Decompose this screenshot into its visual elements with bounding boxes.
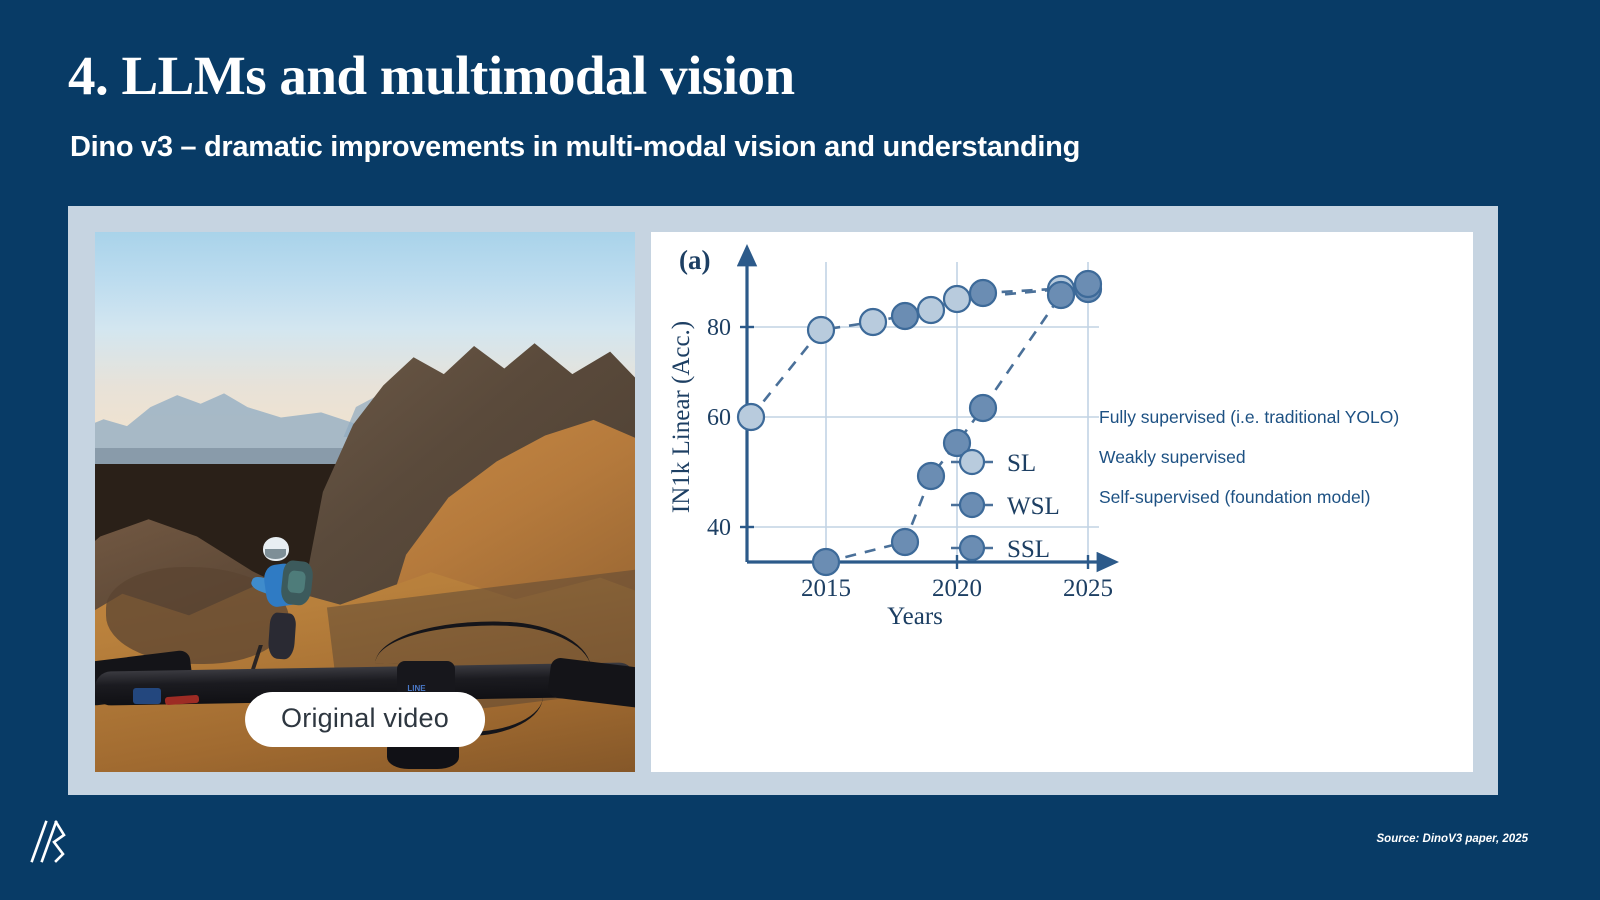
chart-legend: SL WSL SSL xyxy=(951,450,1060,563)
chart-legend-item-sl: SL xyxy=(951,450,1036,477)
x-tick-2015: 2015 xyxy=(801,575,851,602)
chart-legend-label-wsl: WSL xyxy=(1007,493,1060,520)
chart-annotation-list: Fully supervised (i.e. traditional YOLO)… xyxy=(1099,407,1399,508)
slide-root: 4. LLMs and multimodal vision Dino v3 – … xyxy=(0,0,1600,900)
chart-x-tick-labels: 2015 2020 2025 xyxy=(801,575,1113,602)
chart-legend-label-sl: SL xyxy=(1007,450,1036,477)
page-title: 4. LLMs and multimodal vision xyxy=(68,44,795,107)
chart-panel: (a) xyxy=(651,232,1473,772)
source-attribution: Source: DinoV3 paper, 2025 xyxy=(1377,833,1528,845)
annotation-self-supervised: Self-supervised (foundation model) xyxy=(1099,487,1399,508)
series-points-sl xyxy=(738,276,1074,430)
chart-legend-label-ssl: SSL xyxy=(1007,536,1050,563)
chart-y-tick-labels: 80 60 40 xyxy=(707,315,731,541)
original-video-badge[interactable]: Original video xyxy=(245,692,485,747)
annotation-weakly-supervised: Weakly supervised xyxy=(1099,447,1399,468)
y-tick-60: 60 xyxy=(707,405,731,431)
brand-logo-icon xyxy=(26,815,78,867)
chart-y-axis-label: IN1k Linear (Acc.) xyxy=(668,321,695,513)
page-subtitle: Dino v3 – dramatic improvements in multi… xyxy=(70,131,1080,164)
content-card: Original video (a) xyxy=(68,206,1498,795)
y-tick-80: 80 xyxy=(707,315,731,341)
x-tick-2020: 2020 xyxy=(932,575,982,602)
rider-helmet xyxy=(263,537,289,561)
y-tick-40: 40 xyxy=(707,515,731,541)
chart-panel-label: (a) xyxy=(679,245,710,275)
chart-legend-item-ssl: SSL xyxy=(951,536,1050,563)
chart-x-axis-label: Years xyxy=(887,603,943,630)
x-tick-2025: 2025 xyxy=(1063,575,1113,602)
video-thumbnail[interactable]: Original video xyxy=(95,232,635,772)
chart-legend-item-wsl: WSL xyxy=(951,493,1060,520)
brake-lever-blue-accent xyxy=(133,688,161,704)
annotation-fully-supervised: Fully supervised (i.e. traditional YOLO) xyxy=(1099,407,1399,428)
